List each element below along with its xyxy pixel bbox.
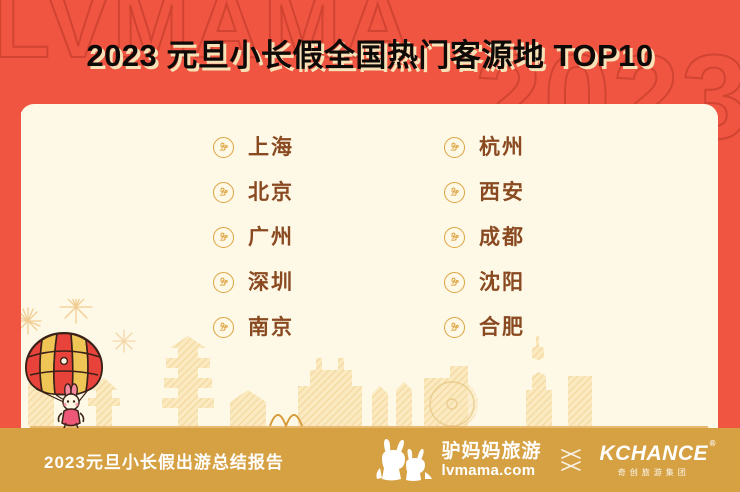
report-title: 2023元旦小长假出游总结报告 bbox=[44, 448, 284, 473]
x-cross-icon bbox=[558, 446, 584, 474]
lvmama-wordmark: 驴妈妈旅游 lvmama.com bbox=[441, 442, 541, 478]
cloud-swirl-icon bbox=[213, 272, 234, 293]
list-item[interactable]: 北京 bbox=[213, 179, 294, 205]
lvmama-logo[interactable]: 驴妈妈旅游 lvmama.com bbox=[372, 438, 541, 482]
list-item[interactable]: 合肥 bbox=[444, 314, 525, 340]
page-title: 2023 元旦小长假全国热门客源地 TOP10 bbox=[86, 30, 653, 75]
cloud-swirl-icon bbox=[444, 317, 465, 338]
cloud-swirl-icon bbox=[444, 272, 465, 293]
city-name: 北京 bbox=[248, 182, 294, 203]
city-name: 广州 bbox=[248, 227, 294, 248]
city-name: 杭州 bbox=[479, 137, 525, 158]
lvmama-name-cn: 驴妈妈旅游 bbox=[441, 442, 541, 461]
list-item[interactable]: 杭州 bbox=[444, 134, 525, 160]
registered-mark: ® bbox=[710, 440, 716, 448]
kchance-name: KCHANCE bbox=[600, 442, 709, 465]
cloud-swirl-icon bbox=[444, 137, 465, 158]
city-name: 深圳 bbox=[248, 272, 294, 293]
list-item[interactable]: 沈阳 bbox=[444, 269, 525, 295]
footer-bar: 2023元旦小长假出游总结报告 bbox=[0, 428, 740, 492]
poster-root: LVMAMA 2023 2023 元旦小长假全国热门客源地 TOP10 bbox=[0, 0, 740, 492]
kchance-wordmark: KCHANCE® bbox=[600, 443, 709, 464]
city-name: 西安 bbox=[479, 182, 525, 203]
list-item[interactable]: 深圳 bbox=[213, 269, 294, 295]
list-item[interactable]: 上海 bbox=[213, 134, 294, 160]
cloud-swirl-icon bbox=[213, 182, 234, 203]
list-item[interactable]: 南京 bbox=[213, 314, 294, 340]
list-item[interactable]: 西安 bbox=[444, 179, 525, 205]
cloud-swirl-icon bbox=[213, 317, 234, 338]
lvmama-name-en: lvmama.com bbox=[441, 463, 541, 478]
city-name: 上海 bbox=[248, 137, 294, 158]
cloud-swirl-icon bbox=[444, 182, 465, 203]
city-list: 上海 北京 广州 深圳 bbox=[20, 134, 718, 340]
left-red-strip bbox=[0, 104, 21, 428]
list-item[interactable]: 广州 bbox=[213, 224, 294, 250]
list-item[interactable]: 成都 bbox=[444, 224, 525, 250]
city-name: 沈阳 bbox=[479, 272, 525, 293]
title-container: 2023 元旦小长假全国热门客源地 TOP10 bbox=[0, 30, 740, 75]
kchance-subtitle: 奇创旅游集团 bbox=[618, 469, 690, 477]
city-name: 合肥 bbox=[479, 317, 525, 338]
content-card: 上海 北京 广州 深圳 bbox=[20, 104, 718, 428]
kchance-logo[interactable]: KCHANCE® 奇创旅游集团 bbox=[600, 443, 709, 477]
cloud-swirl-icon bbox=[213, 227, 234, 248]
cloud-swirl-icon bbox=[213, 137, 234, 158]
rabbit-pair-icon bbox=[372, 438, 434, 482]
brand-strip: 驴妈妈旅游 lvmama.com KCHANCE® bbox=[372, 438, 708, 482]
city-name: 南京 bbox=[248, 317, 294, 338]
city-list-left-column: 上海 北京 广州 深圳 bbox=[213, 134, 294, 340]
cloud-swirl-icon bbox=[444, 227, 465, 248]
city-list-right-column: 杭州 西安 成都 沈阳 bbox=[444, 134, 525, 340]
city-name: 成都 bbox=[479, 227, 525, 248]
